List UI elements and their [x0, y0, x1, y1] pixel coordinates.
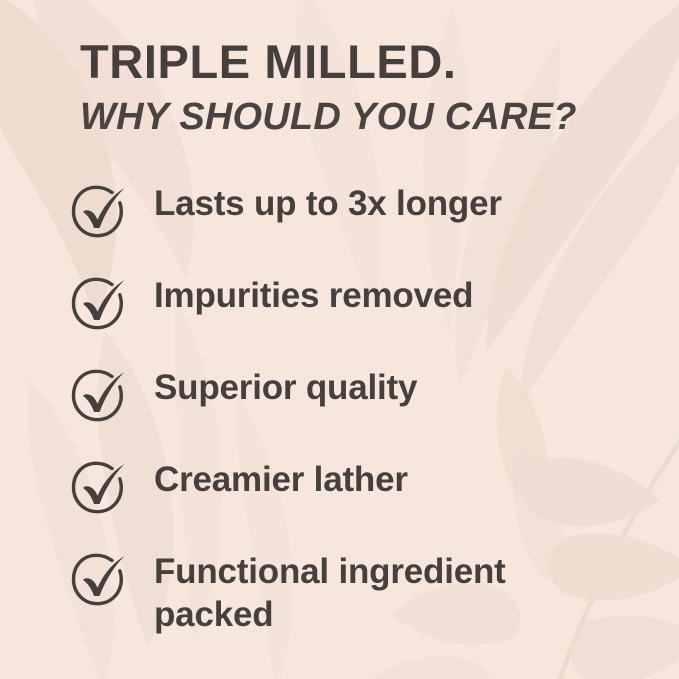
list-item: Superior quality — [72, 366, 652, 424]
check-circle-icon — [72, 368, 134, 424]
check-circle-icon — [72, 276, 134, 332]
check-circle-icon — [72, 552, 134, 608]
benefit-label: Superior quality — [154, 366, 417, 410]
benefits-poster: TRIPLE MILLED. WHY SHOULD YOU CARE? Last… — [0, 0, 679, 679]
benefit-label: Lasts up to 3x longer — [154, 182, 502, 226]
list-item: Creamier lather — [72, 458, 652, 516]
list-item: Impurities removed — [72, 274, 652, 332]
page-subtitle: WHY SHOULD YOU CARE? — [80, 98, 640, 138]
page-title: TRIPLE MILLED. — [80, 38, 640, 86]
headline-block: TRIPLE MILLED. WHY SHOULD YOU CARE? — [80, 38, 640, 138]
benefit-label: Creamier lather — [154, 458, 408, 502]
benefit-label: Functional ingredient packed — [154, 550, 584, 636]
check-circle-icon — [72, 460, 134, 516]
list-item: Functional ingredient packed — [72, 550, 652, 636]
check-circle-icon — [72, 184, 134, 240]
list-item: Lasts up to 3x longer — [72, 182, 652, 240]
benefits-list: Lasts up to 3x longer Impurities removed — [72, 182, 652, 636]
benefit-label: Impurities removed — [154, 274, 473, 318]
